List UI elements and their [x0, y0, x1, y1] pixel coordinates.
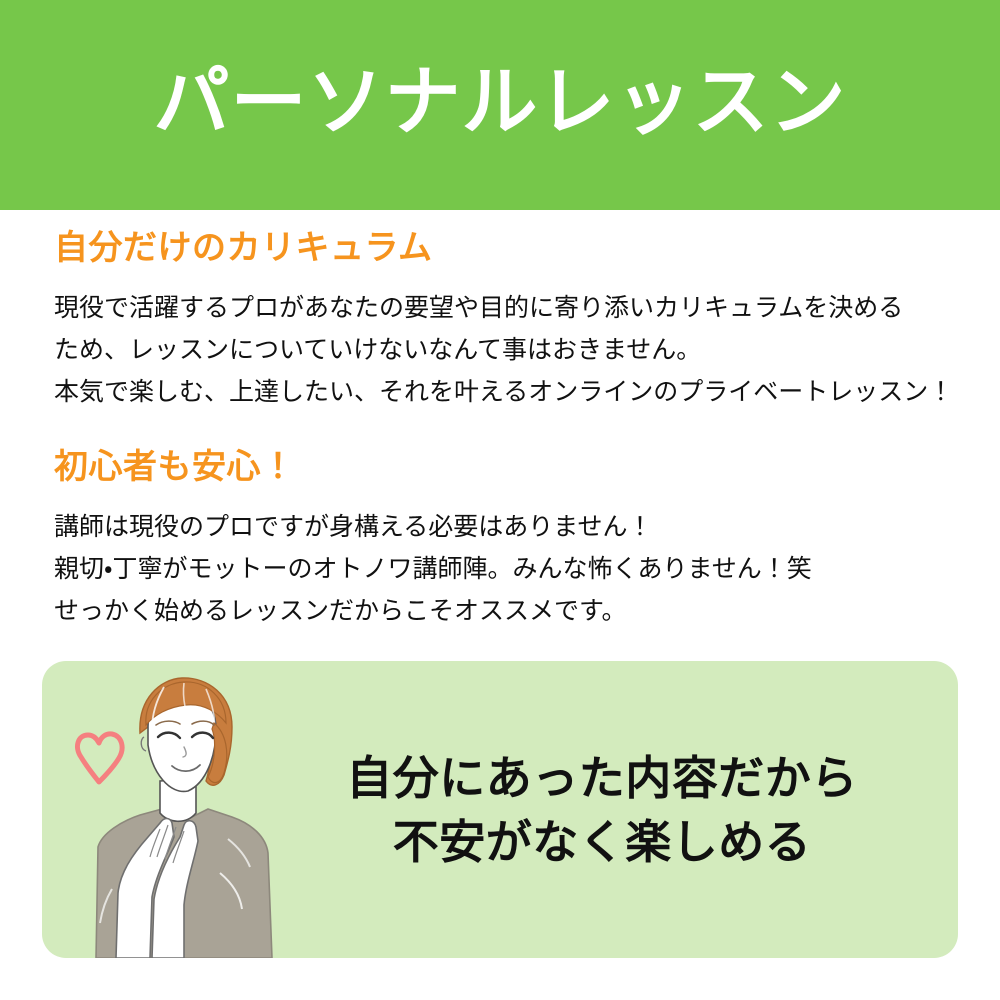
body-line: 本気で楽しむ、上達したい、それを叶えるオンラインのプライベートレッスン！ — [54, 371, 954, 413]
promo-line: 不安がなく楽しめる — [393, 813, 812, 871]
section-heading: 自分だけのカリキュラム — [54, 228, 954, 269]
body-line: ため、レッスンについていけないなんて事はおきません。 — [54, 329, 954, 371]
promo-line: 自分にあった内容だから — [346, 749, 858, 807]
section-curriculum: 自分だけのカリキュラム 現役で活躍するプロがあなたの要望や目的に寄り添いカリキュ… — [54, 228, 954, 413]
body-line: 現役で活躍するプロがあなたの要望や目的に寄り添いカリキュラムを決める — [54, 287, 954, 329]
body-line: 親切・丁寧がモットーのオトノワ講師陣。みんな怖くありません！笑 — [54, 548, 954, 590]
poster-page: パーソナルレッスン 自分だけのカリキュラム 現役で活躍するプロがあなたの要望や目… — [0, 0, 1000, 1000]
smiling-woman-hands-clasped-illustration — [56, 661, 316, 958]
content-area: 自分だけのカリキュラム 現役で活躍するプロがあなたの要望や目的に寄り添いカリキュ… — [54, 228, 954, 632]
body-line: 講師は現役のプロですが身構える必要はありません！ — [54, 506, 954, 548]
page-title: パーソナルレッスン — [154, 65, 847, 141]
promo-card: 自分にあった内容だから 不安がなく楽しめる — [42, 661, 958, 958]
heart-icon — [77, 734, 122, 782]
section-beginner-friendly: 初心者も安心！ 講師は現役のプロですが身構える必要はありません！ 親切・丁寧がモ… — [54, 447, 954, 632]
body-line: せっかく始めるレッスンだからこそオススメです。 — [54, 590, 954, 632]
header-banner: パーソナルレッスン — [0, 0, 1000, 210]
promo-text-block: 自分にあった内容だから 不安がなく楽しめる — [302, 661, 902, 958]
section-heading: 初心者も安心！ — [54, 447, 954, 488]
